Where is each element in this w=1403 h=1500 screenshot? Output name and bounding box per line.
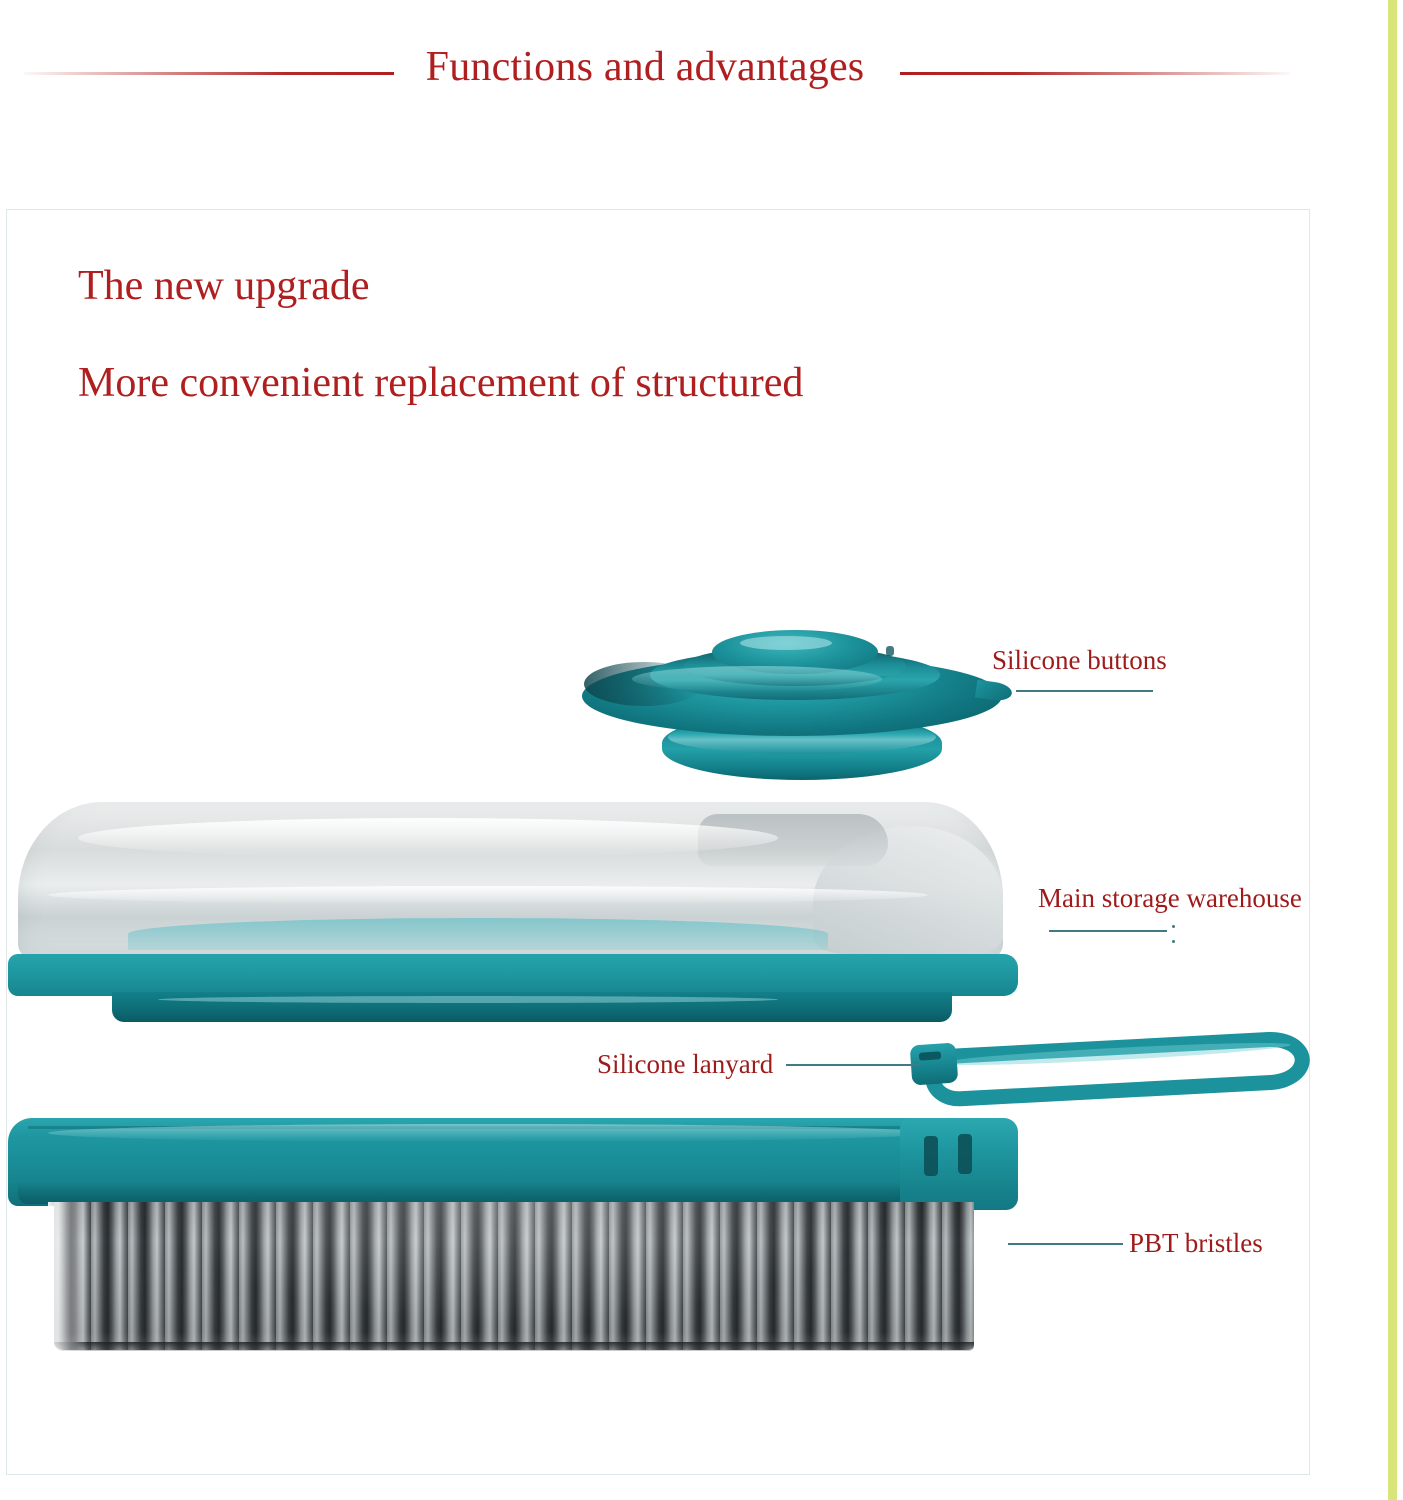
header-banner: Functions and advantages bbox=[0, 0, 1403, 196]
lid-interior-teal-shade bbox=[128, 918, 828, 950]
lid-base-rim bbox=[8, 954, 1018, 996]
product-part-silicone-buttons bbox=[572, 624, 1022, 784]
cap-brim-highlight bbox=[632, 666, 882, 692]
brush-body-shadow bbox=[18, 1182, 1008, 1204]
leader-dot bbox=[1172, 925, 1175, 928]
leader-dot bbox=[1172, 940, 1175, 943]
callout-label-main-storage-warehouse: Main storage warehouse bbox=[1038, 882, 1302, 914]
lanyard-clip-slot bbox=[919, 1051, 942, 1061]
lanyard-strap-loop bbox=[924, 1030, 1312, 1108]
leader-line-silicone-lanyard bbox=[786, 1064, 919, 1066]
leader-line-silicone-buttons bbox=[1016, 690, 1153, 692]
right-edge-accent-stripe bbox=[1388, 0, 1397, 1500]
brush-connector-slot bbox=[924, 1136, 938, 1176]
pbt-bristle-tip-edge bbox=[54, 1342, 974, 1351]
callout-label-silicone-buttons: Silicone buttons bbox=[992, 644, 1167, 676]
heading-the-new-upgrade: The new upgrade bbox=[78, 261, 370, 311]
brush-body-highlight bbox=[48, 1124, 928, 1142]
product-part-brush-head bbox=[8, 1118, 1028, 1353]
product-part-silicone-lanyard bbox=[905, 1036, 1315, 1108]
callout-label-silicone-lanyard: Silicone lanyard bbox=[597, 1048, 773, 1080]
cap-vent-hole bbox=[886, 646, 894, 656]
product-part-main-storage-warehouse bbox=[8, 796, 1028, 1022]
leader-line-main-storage-warehouse bbox=[1049, 930, 1167, 932]
cap-top-highlight bbox=[740, 636, 832, 650]
callout-label-pbt-bristles: PBT bristles bbox=[1129, 1227, 1263, 1259]
leader-line-pbt-bristles bbox=[1008, 1243, 1123, 1245]
page-title: Functions and advantages bbox=[0, 41, 1290, 93]
brush-connector-slot bbox=[958, 1134, 972, 1174]
pbt-bristle-field bbox=[54, 1202, 974, 1350]
lid-top-highlight bbox=[78, 818, 778, 858]
lid-reflection-band bbox=[48, 886, 928, 904]
heading-more-convenient-replacement: More convenient replacement of structure… bbox=[78, 358, 803, 408]
lid-base-foot-highlight bbox=[158, 996, 778, 1003]
